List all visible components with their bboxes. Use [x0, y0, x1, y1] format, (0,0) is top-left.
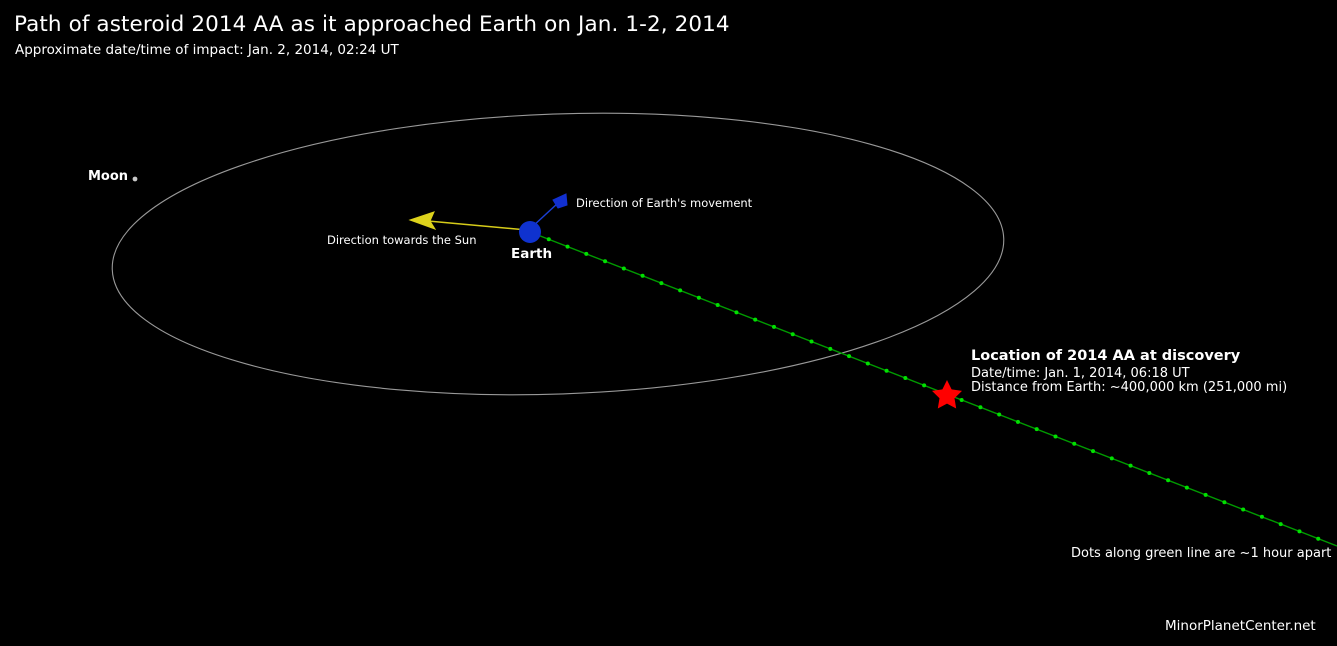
asteroid-hour-dot: [960, 398, 964, 402]
moon-marker: [133, 177, 138, 182]
asteroid-hour-dot: [997, 413, 1001, 417]
asteroid-hour-dot: [903, 376, 907, 380]
page-subtitle: Approximate date/time of impact: Jan. 2,…: [15, 44, 399, 58]
asteroid-hour-dot: [847, 354, 851, 358]
asteroid-hour-dot: [885, 369, 889, 373]
asteroid-hour-dot: [622, 267, 626, 271]
discovery-title: Location of 2014 AA at discovery: [971, 349, 1287, 364]
discovery-datetime: Date/time: Jan. 1, 2014, 06:18 UT: [971, 367, 1287, 380]
asteroid-hour-dot: [1147, 471, 1151, 475]
hour-dots-note: Dots along green line are ~1 hour apart: [1071, 547, 1331, 560]
asteroid-hour-dot: [1053, 434, 1057, 438]
earth-movement-arrow: [532, 194, 567, 227]
asteroid-hour-dot: [1260, 515, 1264, 519]
asteroid-hour-dot: [603, 259, 607, 263]
asteroid-hour-dot: [584, 252, 588, 256]
asteroid-hour-dot: [922, 383, 926, 387]
asteroid-hour-dot: [1166, 478, 1170, 482]
asteroid-hour-dot: [1016, 420, 1020, 424]
asteroid-hour-dot: [1072, 442, 1076, 446]
asteroid-hour-dot: [734, 310, 738, 314]
asteroid-hour-dot: [1129, 464, 1133, 468]
asteroid-hour-dot: [697, 296, 701, 300]
asteroid-hour-dot: [978, 405, 982, 409]
discovery-star-marker: [932, 380, 962, 409]
asteroid-hour-dot: [1241, 507, 1245, 511]
asteroid-hour-dot: [678, 288, 682, 292]
asteroid-hour-dot: [772, 325, 776, 329]
asteroid-path-diagram: Path of asteroid 2014 AA as it approache…: [0, 0, 1337, 646]
asteroid-hour-dot: [566, 245, 570, 249]
asteroid-hour-dot: [1222, 500, 1226, 504]
asteroid-hour-dot: [1185, 486, 1189, 490]
asteroid-hour-dot: [791, 332, 795, 336]
asteroid-hour-dot: [716, 303, 720, 307]
sun-direction-arrow: [410, 212, 527, 230]
asteroid-hour-dot: [753, 318, 757, 322]
asteroid-hour-dot: [1279, 522, 1283, 526]
asteroid-hour-dot: [1035, 427, 1039, 431]
asteroid-hour-dot: [1110, 456, 1114, 460]
asteroid-hour-dot: [1204, 493, 1208, 497]
asteroid-hour-dot: [641, 274, 645, 278]
earth-marker: [519, 221, 541, 243]
earth-label: Earth: [511, 248, 552, 262]
moon-label: Moon: [88, 170, 128, 183]
sun-direction-label: Direction towards the Sun: [327, 235, 476, 247]
page-title: Path of asteroid 2014 AA as it approache…: [14, 14, 730, 36]
asteroid-hour-dot: [547, 237, 551, 241]
asteroid-hour-dot: [1297, 529, 1301, 533]
asteroid-hour-dot: [828, 347, 832, 351]
asteroid-hour-dot: [1316, 537, 1320, 541]
watermark-label: MinorPlanetCenter.net: [1165, 620, 1316, 634]
discovery-distance: Distance from Earth: ~400,000 km (251,00…: [971, 381, 1287, 394]
asteroid-hour-dot: [810, 340, 814, 344]
asteroid-hour-dot: [659, 281, 663, 285]
discovery-annotation: Location of 2014 AA at discovery Date/ti…: [971, 349, 1287, 395]
earth-movement-label: Direction of Earth's movement: [576, 198, 752, 210]
asteroid-hour-dot: [866, 361, 870, 365]
asteroid-hour-dot: [1091, 449, 1095, 453]
moon-orbit-ellipse: [107, 99, 1008, 410]
